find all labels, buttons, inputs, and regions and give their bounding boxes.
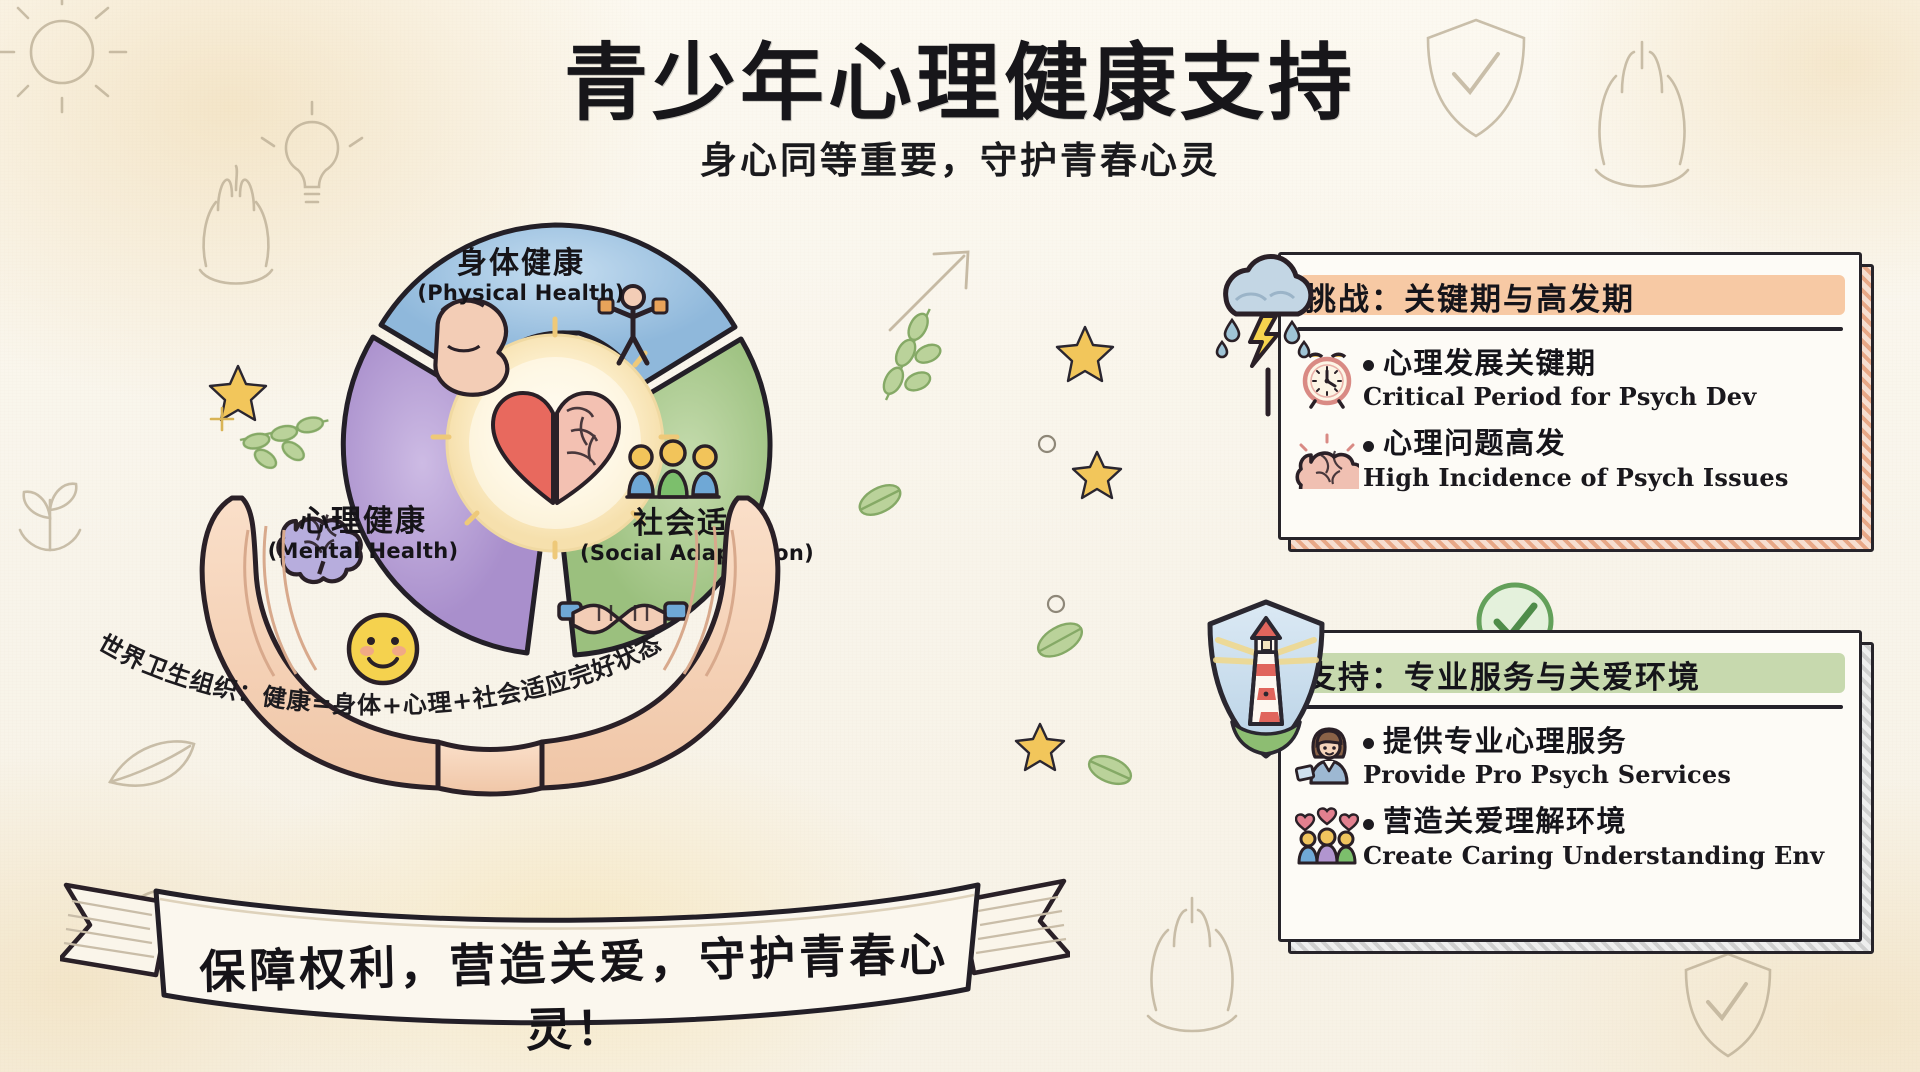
list-item-text: 营造关爱理解环境 Create Caring Understanding Env <box>1363 803 1824 869</box>
item-en: Critical Period for Psych Dev <box>1363 382 1756 411</box>
bullet-dot <box>1363 738 1374 749</box>
flexed-arm-icon <box>435 300 507 395</box>
challenge-heading: 挑战：关键期与高发期 <box>1299 274 1635 319</box>
list-item[interactable]: 营造关爱理解环境 Create Caring Understanding Env <box>1295 803 1841 869</box>
bullet-dot <box>1363 441 1374 452</box>
support-items: 提供专业心理服务 Provide Pro Psych Services <box>1295 723 1841 870</box>
bottom-ribbon: 保障权利，营造关爱，守护青春心灵！ <box>60 855 1070 1045</box>
list-item[interactable]: 心理发展关键期 Critical Period for Psych Dev <box>1295 345 1841 411</box>
list-item-text: 心理问题高发 High Incidence of Psych Issues <box>1363 425 1789 491</box>
challenge-header-rule <box>1297 327 1843 331</box>
support-panel[interactable]: 支持：专业服务与关爱环境 <box>1278 630 1862 942</box>
item-cn: 心理问题高发 <box>1383 426 1566 460</box>
list-item[interactable]: 心理问题高发 High Incidence of Psych Issues <box>1295 425 1841 491</box>
caring-family-hearts-icon <box>1295 803 1359 867</box>
support-panel-header: 支持：专业服务与关爱环境 <box>1299 647 1841 701</box>
list-item-text: 提供专业心理服务 Provide Pro Psych Services <box>1363 723 1731 789</box>
support-header-rule <box>1297 705 1843 709</box>
challenge-panel[interactable]: 挑战：关键期与高发期 <box>1278 252 1862 540</box>
infographic-canvas: 青少年心理健康支持 身心同等重要，守护青春心灵 <box>0 0 1920 1072</box>
item-en: Provide Pro Psych Services <box>1363 760 1731 789</box>
brain-alert-icon <box>1295 425 1359 489</box>
item-en: Create Caring Understanding Env <box>1363 841 1824 870</box>
support-panel-body: 支持：专业服务与关爱环境 <box>1278 630 1862 942</box>
item-cn: 营造关爱理解环境 <box>1383 804 1627 838</box>
challenge-panel-body: 挑战：关键期与高发期 <box>1278 252 1862 540</box>
page-subtitle-wrap: 身心同等重要，守护青春心灵 <box>0 128 1920 188</box>
lighthouse-shield-icon <box>1196 596 1336 768</box>
item-cn: 提供专业心理服务 <box>1383 724 1627 758</box>
item-en: High Incidence of Psych Issues <box>1363 463 1789 492</box>
cupped-hands-icon <box>170 470 810 800</box>
ribbon-text: 保障权利，营造关爱，守护青春心灵！ <box>179 917 972 1068</box>
item-cn: 心理发展关键期 <box>1383 346 1597 380</box>
list-item-text: 心理发展关键期 Critical Period for Psych Dev <box>1363 345 1756 411</box>
page-title: 青少年心理健康支持 <box>0 16 1920 137</box>
list-item[interactable]: 提供专业心理服务 Provide Pro Psych Services <box>1295 723 1841 789</box>
page-subtitle: 身心同等重要，守护青春心灵 <box>684 128 1236 188</box>
challenge-items: 心理发展关键期 Critical Period for Psych Dev <box>1295 345 1841 492</box>
challenge-panel-header: 挑战：关键期与高发期 <box>1299 269 1841 323</box>
bullet-dot <box>1363 819 1374 830</box>
bullet-dot <box>1363 360 1374 371</box>
support-heading: 支持：专业服务与关爱环境 <box>1299 652 1701 697</box>
storm-cloud-lightning-icon <box>1192 238 1342 418</box>
sprout-doodle <box>20 484 80 550</box>
